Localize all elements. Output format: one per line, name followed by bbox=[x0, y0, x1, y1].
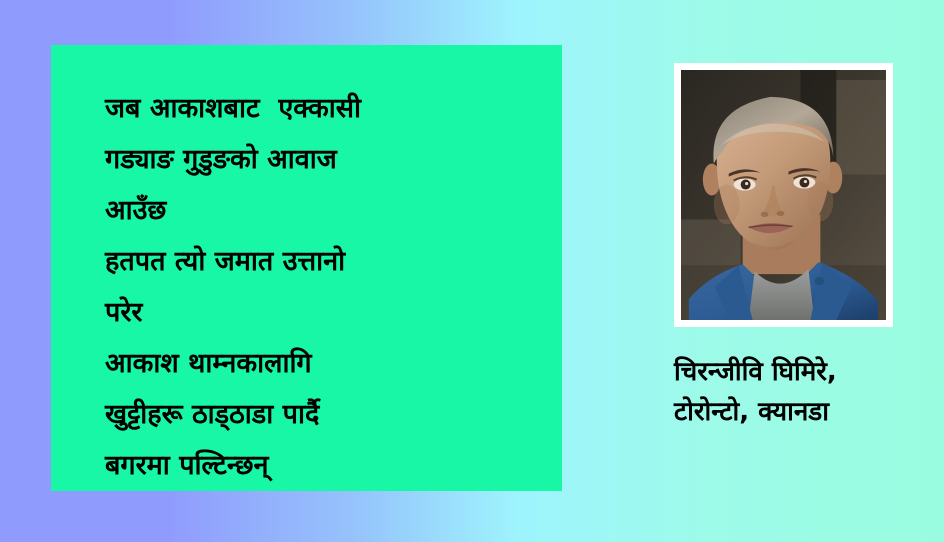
poem-line: गड्याङ गुडुङको आवाज bbox=[105, 134, 554, 185]
poster-canvas: जब आकाशबाट एक्कासी गड्याङ गुडुङको आवाज आ… bbox=[0, 0, 944, 542]
portrait-illustration bbox=[681, 70, 886, 320]
portrait-frame bbox=[674, 63, 893, 327]
poem-line: जब आकाशबाट एक्कासी bbox=[105, 83, 554, 134]
poem-line: परेर bbox=[105, 287, 554, 338]
poem-panel: जब आकाशबाट एक्कासी गड्याङ गुडुङको आवाज आ… bbox=[51, 45, 562, 491]
poem-line: खुट्टीहरू ठाड्ठाडा पार्दै bbox=[105, 389, 554, 440]
poem-line: आउँछ bbox=[105, 185, 554, 236]
caption-line: टोरोन्टो, क्यानडा bbox=[674, 392, 934, 432]
poem-line: बगरमा पल्टिन्छन् bbox=[105, 440, 554, 491]
poem-line: हतपत त्यो जमात उत्तानो bbox=[105, 236, 554, 287]
caption-line: चिरन्जीवि घिमिरे, bbox=[674, 352, 934, 392]
poem-text-block: जब आकाशबाट एक्कासी गड्याङ गुडुङको आवाज आ… bbox=[105, 83, 554, 491]
portrait-image bbox=[681, 70, 886, 320]
poem-line: आकाश थाम्नकालागि bbox=[105, 338, 554, 389]
portrait-caption: चिरन्जीवि घिमिरे, टोरोन्टो, क्यानडा bbox=[674, 352, 934, 432]
